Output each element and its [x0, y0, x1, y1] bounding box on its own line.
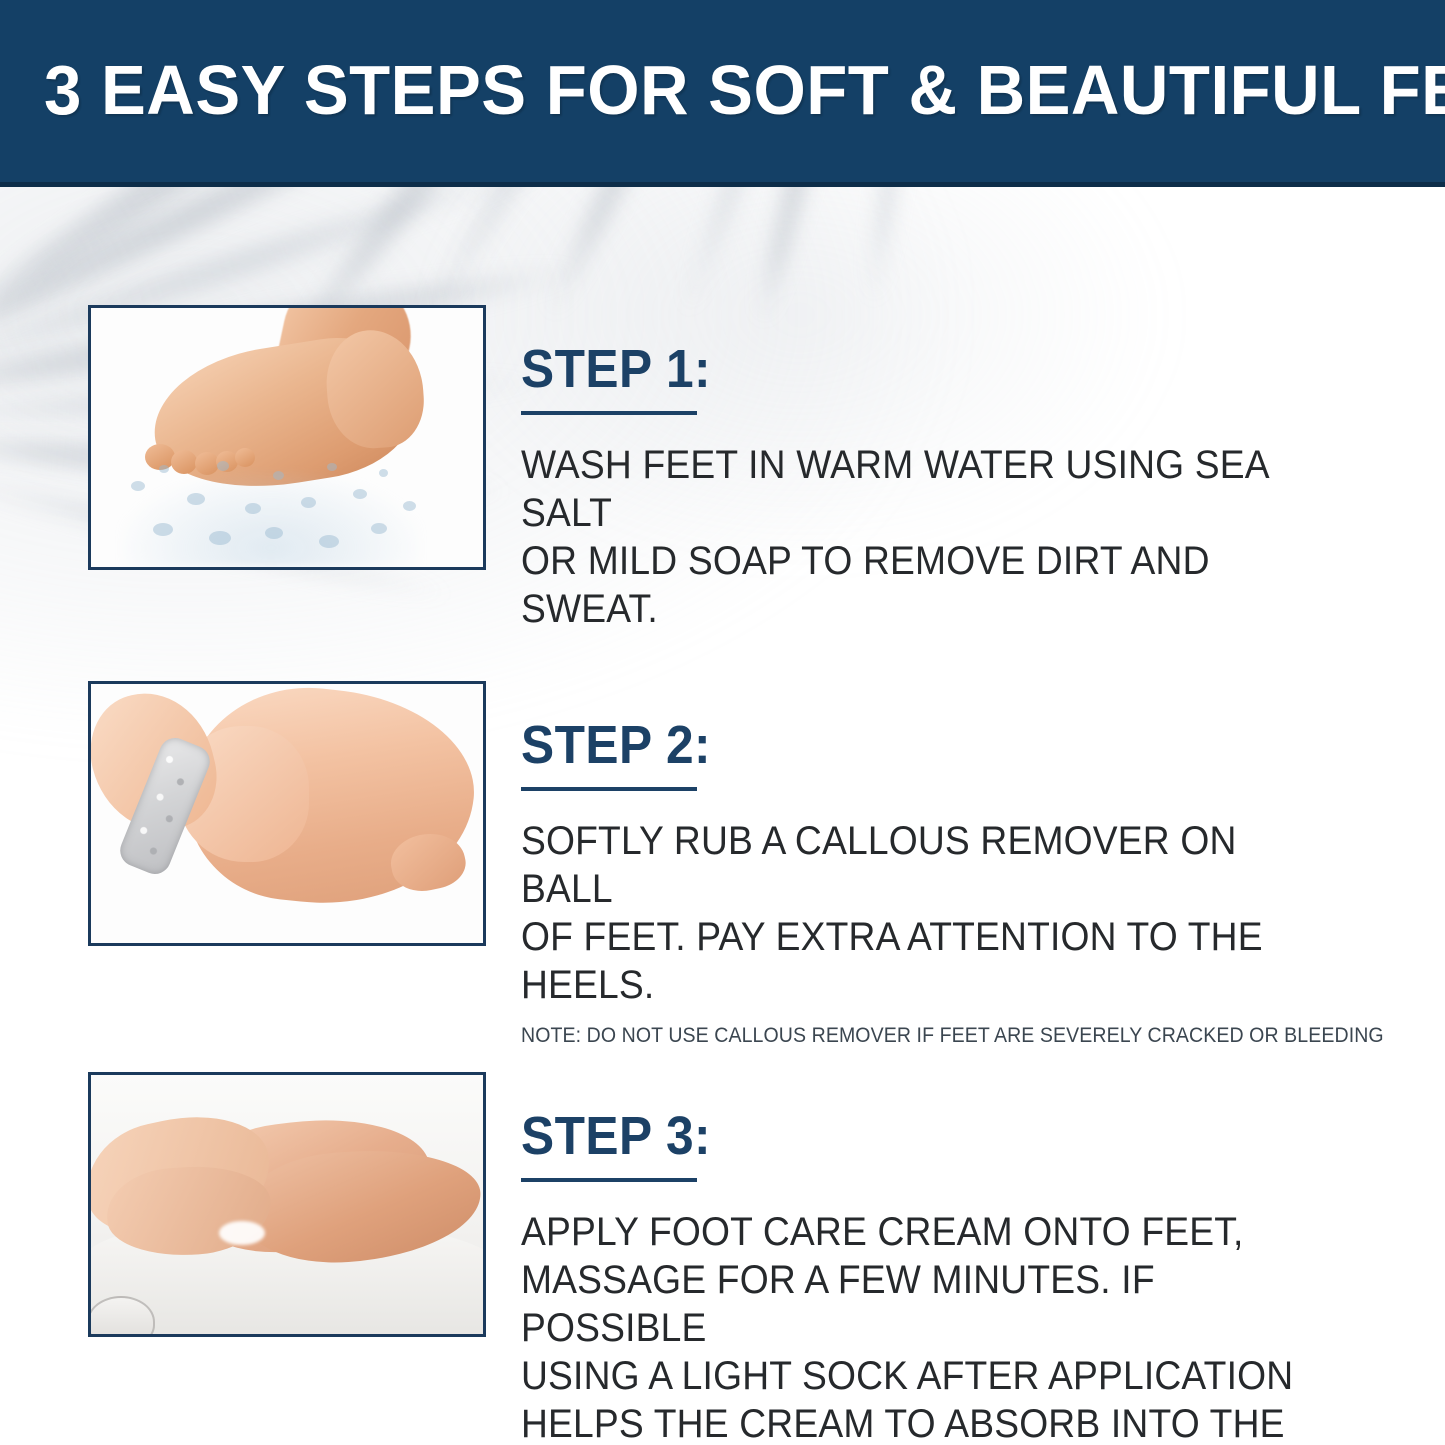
cream-dab	[219, 1221, 265, 1245]
step-3-photo-frame	[88, 1072, 486, 1337]
step-1-body: WASH FEET IN WARM WATER USING SEA SALT O…	[521, 441, 1321, 633]
frond-blade	[751, 187, 850, 326]
step-2-title-underline	[521, 787, 697, 791]
step-1-title-underline	[521, 411, 697, 415]
frond-blade	[676, 187, 825, 319]
frond-blade	[863, 187, 917, 306]
step-2-body: SOFTLY RUB A CALLOUS REMOVER ON BALL OF …	[521, 817, 1321, 1009]
frond-blade	[537, 187, 762, 322]
step-2-photo-frame	[88, 681, 486, 946]
step-3-title-underline	[521, 1178, 697, 1182]
step-3-text-block: STEP 3: APPLY FOOT CARE CREAM ONTO FEET,…	[521, 1108, 1381, 1445]
step-3-title: STEP 3:	[521, 1108, 1312, 1164]
page-title: 3 EASY STEPS FOR SOFT & BEAUTIFUL FEET	[44, 50, 1350, 130]
step-1-photo-frame	[88, 305, 486, 570]
header-banner: 3 EASY STEPS FOR SOFT & BEAUTIFUL FEET	[0, 0, 1445, 182]
infographic-poster: 3 EASY STEPS FOR SOFT & BEAUTIFUL FEET	[0, 0, 1445, 1445]
foot-splashing-in-water-illustration	[91, 308, 483, 567]
header-banner-bottom-edge	[0, 182, 1445, 187]
pumice-stone-on-heel-illustration	[91, 684, 483, 943]
step-2-title: STEP 2:	[521, 717, 1312, 773]
step-1-title: STEP 1:	[521, 341, 1312, 397]
step-3-body: APPLY FOOT CARE CREAM ONTO FEET, MASSAGE…	[521, 1208, 1321, 1445]
step-1-text-block: STEP 1: WASH FEET IN WARM WATER USING SE…	[521, 341, 1381, 633]
step-2-note: NOTE: DO NOT USE CALLOUS REMOVER IF FEET…	[521, 1023, 1321, 1049]
step-2-text-block: STEP 2: SOFTLY RUB A CALLOUS REMOVER ON …	[521, 717, 1381, 1049]
water-splash-droplets	[113, 445, 443, 565]
hands-massaging-feet-illustration	[91, 1075, 483, 1334]
